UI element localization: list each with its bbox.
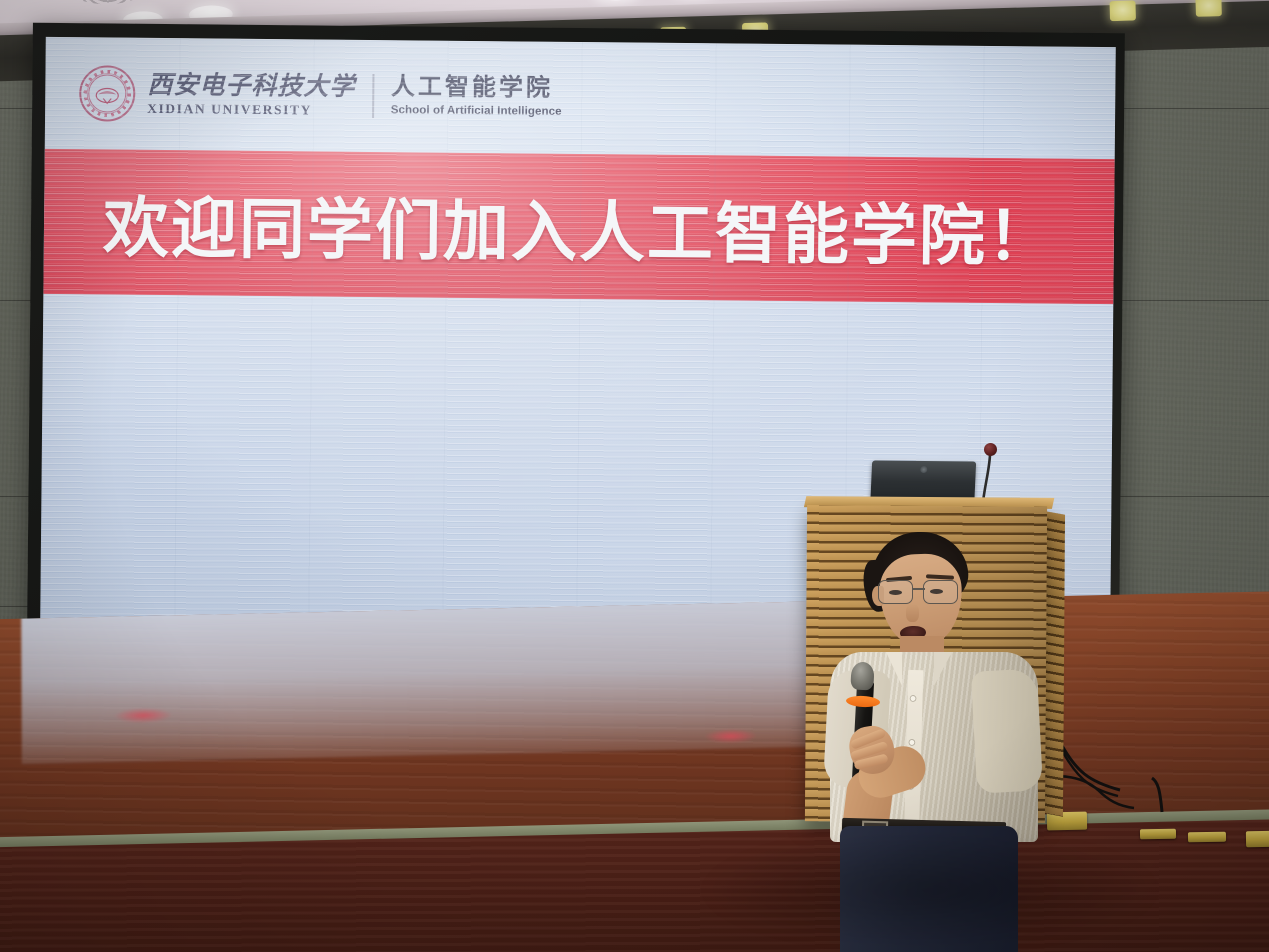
shirt-button — [910, 696, 915, 701]
downlight-icon — [594, 0, 638, 1]
soffit-lamp-icon — [1195, 0, 1222, 17]
university-name-en: XIDIAN UNIVERSITY — [147, 102, 355, 117]
slide-banner-title: 欢迎同学们加入人工智能学院！ — [103, 174, 1056, 279]
school-name-cn: 人工智能学院 — [391, 75, 562, 101]
collar-left — [886, 652, 902, 686]
university-name-cn: 西安电子科技大学 — [147, 73, 355, 100]
circular-ceiling-vent-icon — [61, 0, 154, 6]
collar-right — [934, 652, 952, 686]
slide-header: 西安电子科技大学 XIDIAN UNIVERSITY 人工智能学院 School… — [45, 37, 1116, 159]
floor-outlet-box — [1188, 832, 1226, 843]
slide-red-banner: 欢迎同学们加入人工智能学院！ — [43, 149, 1114, 304]
photo-scene: 西安电子科技大学 XIDIAN UNIVERSITY 人工智能学院 School… — [0, 0, 1269, 952]
eyeglasses-icon — [876, 580, 968, 606]
floor-shadow — [700, 830, 1160, 950]
shirt-sleeve-right — [971, 668, 1043, 793]
logo-divider — [372, 74, 374, 118]
shirt-button — [909, 740, 914, 745]
gooseneck-mic-head-icon — [984, 443, 997, 456]
xidian-university-seal-icon — [79, 65, 136, 122]
nose — [906, 604, 919, 622]
handheld-microphone-grille-icon — [850, 661, 874, 690]
soffit-lamp-icon — [1109, 0, 1136, 21]
school-name-en: School of Artificial Intelligence — [391, 105, 562, 118]
floor-outlet-box — [1246, 831, 1269, 847]
